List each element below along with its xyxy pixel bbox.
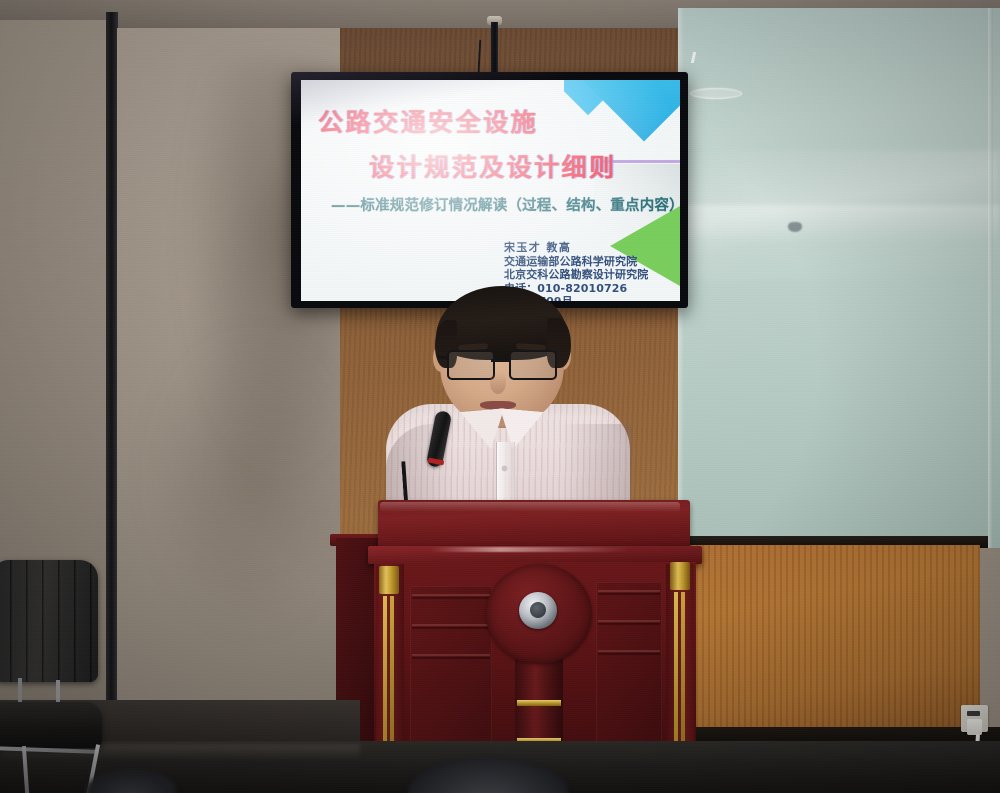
outlet-slot-icon bbox=[967, 711, 980, 716]
chair-backrest-ribbing bbox=[0, 560, 98, 682]
power-plug[interactable] bbox=[967, 719, 982, 735]
chair-seat bbox=[0, 702, 102, 748]
podium-groove bbox=[412, 627, 490, 629]
podium-groove bbox=[412, 624, 490, 626]
podium-medallion-icon bbox=[519, 592, 557, 629]
nose bbox=[490, 372, 506, 394]
glasses-bridge bbox=[491, 359, 509, 362]
wood-grain-right bbox=[690, 545, 980, 735]
oval-reflection-icon bbox=[690, 88, 742, 99]
podium-groove bbox=[598, 623, 660, 625]
photograph-scene: 公路交通安全设施 设计规范及设计细则 ——标准规范修订情况解读（过程、结构、重点… bbox=[0, 0, 1000, 793]
glasses-lens-left bbox=[447, 350, 495, 380]
shirt-button bbox=[502, 466, 507, 471]
podium-gold-capital-right bbox=[670, 562, 690, 590]
wall-shadow-lower bbox=[150, 330, 350, 630]
podium-groove bbox=[598, 650, 660, 652]
podium-groove bbox=[598, 653, 660, 655]
mouth bbox=[480, 401, 516, 410]
podium-groove bbox=[598, 593, 660, 595]
podium-gold-bar bbox=[517, 700, 561, 706]
podium-groove bbox=[412, 654, 490, 656]
podium-groove bbox=[412, 657, 490, 659]
glasses-lens-right bbox=[509, 350, 557, 380]
presentation-screen[interactable]: 公路交通安全设施 设计规范及设计细则 ——标准规范修订情况解读（过程、结构、重点… bbox=[301, 80, 680, 301]
podium-desktop-gloss bbox=[380, 502, 680, 512]
slide-author-org-2: 北京交科公路勘察设计研究院 bbox=[504, 268, 680, 282]
chair-leg bbox=[22, 746, 30, 793]
podium-groove bbox=[412, 597, 490, 599]
podium-gold-capital-left bbox=[379, 566, 399, 594]
slide-author-org-1: 交通运输部公路科学研究院 bbox=[504, 255, 680, 269]
glass-reflection-band bbox=[678, 205, 1000, 245]
glass-edge-right bbox=[988, 8, 993, 548]
slide-title-line-1: 公路交通安全设施 bbox=[318, 103, 680, 139]
podium-lip-highlight bbox=[430, 547, 630, 552]
podium-groove bbox=[598, 590, 660, 592]
conference-chair[interactable] bbox=[0, 560, 124, 793]
slide-subtitle: ——标准规范修订情况解读（过程、结构、重点内容） bbox=[331, 194, 680, 215]
slide-title-line-2: 设计规范及设计细则 bbox=[369, 148, 680, 184]
glass-smudge bbox=[788, 222, 802, 232]
podium-groove bbox=[598, 620, 660, 622]
podium-groove bbox=[412, 594, 490, 596]
slide-author-name: 宋玉才 教高 bbox=[504, 241, 680, 255]
